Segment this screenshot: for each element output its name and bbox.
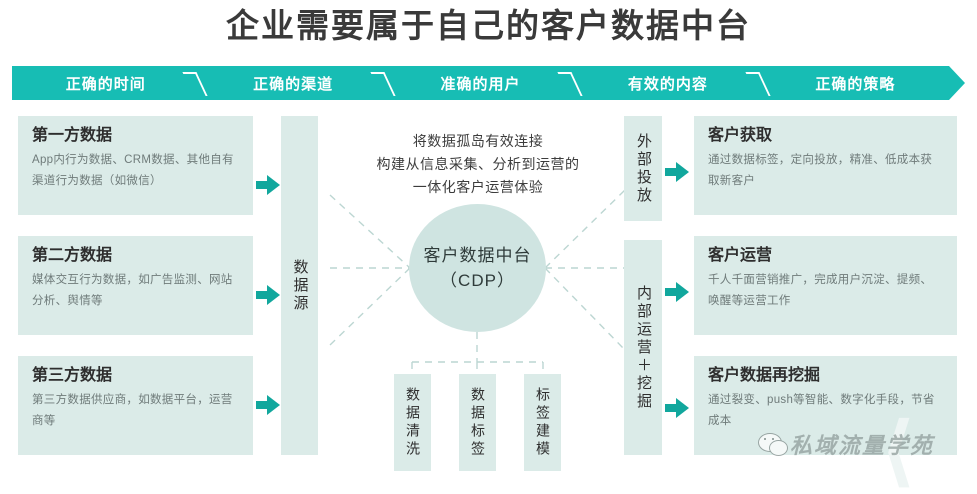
arrow-internal-to-remining — [665, 398, 689, 418]
right-card-body: 千人千面营销推广，完成用户沉淀、提频、唤醒等运营工作 — [708, 270, 943, 312]
right-card-title: 客户运营 — [708, 245, 943, 267]
wechat-icon — [756, 431, 790, 457]
capability-box-label: 数据标签 — [468, 387, 487, 459]
left-card-title: 第一方数据 — [32, 125, 239, 147]
process-step-label: 正确的策略 — [815, 73, 895, 94]
channel-bar-label: 内部运营＋挖掘 — [633, 285, 653, 411]
cdp-circle-line-2: （CDP） — [440, 268, 515, 293]
capability-box-tag-modeling[interactable]: 标签建模 — [524, 374, 561, 471]
channel-bar-label: 外部投放 — [633, 133, 653, 205]
left-card-first-party[interactable]: 第一方数据 App内行为数据、CRM数据、其他自有渠道行为数据（如微信） — [18, 116, 253, 215]
process-step-label: 准确的用户 — [441, 73, 521, 94]
diagram-canvas: 企业需要属于自己的客户数据中台 正确的时间 正确的渠道 准确的用户 有效的内容 … — [0, 0, 977, 480]
center-description-line-2: 构建从信息采集、分析到运营的 — [333, 153, 623, 176]
left-card-title: 第二方数据 — [32, 245, 239, 267]
process-step-1[interactable]: 正确的时间 — [12, 66, 199, 100]
center-description: 将数据孤岛有效连接 构建从信息采集、分析到运营的 一体化客户运营体验 — [333, 130, 623, 199]
process-step-label: 有效的内容 — [628, 73, 708, 94]
center-description-line-1: 将数据孤岛有效连接 — [333, 130, 623, 153]
right-card-title: 客户获取 — [708, 125, 943, 147]
right-card-customer-acquisition[interactable]: 客户获取 通过数据标签，定向投放，精准、低成本获取新客户 — [694, 116, 957, 215]
capability-box-data-cleaning[interactable]: 数据清洗 — [394, 374, 431, 471]
center-description-line-3: 一体化客户运营体验 — [333, 176, 623, 199]
right-card-body: 通过数据标签，定向投放，精准、低成本获取新客户 — [708, 150, 943, 192]
process-step-2[interactable]: 正确的渠道 — [199, 66, 386, 100]
arrow-third-party-to-source — [256, 395, 280, 415]
arrow-external-to-acquisition — [665, 162, 689, 182]
capability-box-label: 标签建模 — [533, 387, 552, 459]
process-banner: 正确的时间 正确的渠道 准确的用户 有效的内容 正确的策略 — [12, 66, 965, 100]
cdp-circle-line-1: 客户数据中台 — [424, 243, 532, 268]
left-card-body: 第三方数据供应商，如数据平台，运营商等 — [32, 390, 239, 432]
left-card-body: App内行为数据、CRM数据、其他自有渠道行为数据（如微信） — [32, 150, 239, 192]
channel-bar-internal[interactable]: 内部运营＋挖掘 — [624, 240, 662, 455]
left-card-third-party[interactable]: 第三方数据 第三方数据供应商，如数据平台，运营商等 — [18, 356, 253, 455]
process-banner-steps: 正确的时间 正确的渠道 准确的用户 有效的内容 正确的策略 — [12, 66, 949, 100]
process-step-4[interactable]: 有效的内容 — [574, 66, 761, 100]
arrow-second-party-to-source — [256, 285, 280, 305]
process-step-label: 正确的时间 — [66, 73, 146, 94]
left-card-title: 第三方数据 — [32, 365, 239, 387]
page-title: 企业需要属于自己的客户数据中台 — [0, 6, 977, 46]
arrow-first-party-to-source — [256, 175, 280, 195]
left-card-body: 媒体交互行为数据，如广告监测、网站分析、舆情等 — [32, 270, 239, 312]
left-card-second-party[interactable]: 第二方数据 媒体交互行为数据，如广告监测、网站分析、舆情等 — [18, 236, 253, 335]
data-source-label: 数据源 — [290, 259, 310, 313]
process-step-3[interactable]: 准确的用户 — [387, 66, 574, 100]
capability-box-label: 数据清洗 — [403, 387, 422, 459]
data-source-bar[interactable]: 数据源 — [281, 116, 318, 455]
right-card-customer-operation[interactable]: 客户运营 千人千面营销推广，完成用户沉淀、提频、唤醒等运营工作 — [694, 236, 957, 335]
process-step-label: 正确的渠道 — [253, 73, 333, 94]
right-card-title: 客户数据再挖掘 — [708, 365, 943, 387]
capability-box-data-tagging[interactable]: 数据标签 — [459, 374, 496, 471]
channel-bar-external[interactable]: 外部投放 — [624, 116, 662, 221]
process-step-5[interactable]: 正确的策略 — [762, 66, 949, 100]
watermark-label: 私域流量学苑 — [790, 428, 934, 460]
cdp-circle[interactable]: 客户数据中台 （CDP） — [409, 204, 546, 332]
arrow-internal-to-operation — [665, 282, 689, 302]
watermark: 私域流量学苑 — [756, 424, 971, 464]
